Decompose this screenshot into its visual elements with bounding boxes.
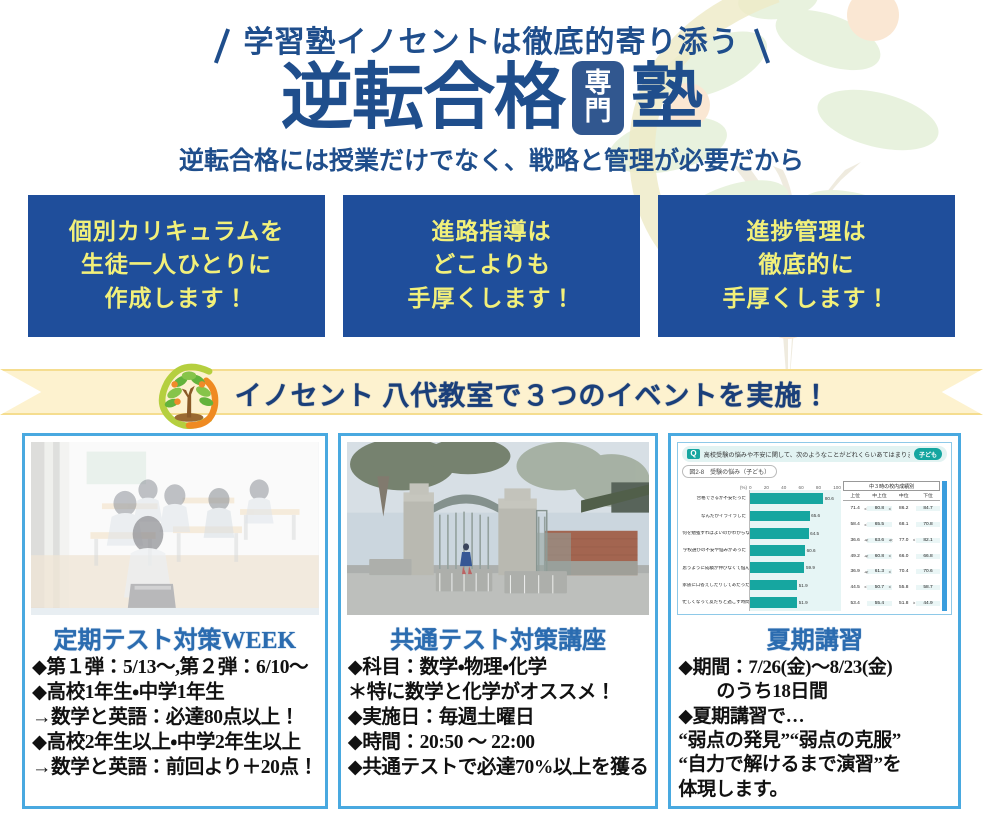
chart-bar-label: 学校選びの不安や悩みがあった: [682, 548, 749, 553]
card-line: →数学と英語：前回より＋20点！: [32, 756, 318, 781]
breakdown-operator: ≪: [889, 538, 893, 543]
breakdown-operator: <: [864, 585, 866, 590]
card-line: ◆第１弾：5/13〜,第２弾：6/10〜: [32, 656, 318, 681]
chart-bar-track: 59.9: [749, 559, 841, 576]
breakdown-header-row: 上位 中上位 中位 下位: [843, 491, 940, 501]
ribbon-text: イノセント 八代教室で３つのイベントを実施！: [235, 374, 831, 413]
breakdown-col-header: 下位: [916, 491, 940, 501]
title-part1: 逆転合格: [281, 62, 565, 134]
university-gate-photo: [347, 442, 650, 615]
chart-bar-value: 80.6: [825, 496, 834, 501]
breakdown-cell: 58.7: [916, 585, 940, 590]
breakdown-col-header: 中位: [892, 491, 916, 501]
promise-box-curriculum: 個別カリキュラムを 生徒一人ひとりに 作成します！: [28, 195, 325, 337]
chart-bar-value: 65.6: [811, 513, 820, 518]
classroom-students-photo: [31, 442, 319, 615]
breakdown-operator: <: [864, 522, 866, 527]
chart-bar-label: 忙しくなって友だちと過ごす時間が減った: [682, 600, 749, 605]
card-line: “弱点の発見”“弱点の克服”: [678, 729, 951, 753]
breakdown-row: 71.4<80.8<86.284.7: [843, 501, 940, 517]
chart-bar-value: 51.9: [799, 583, 808, 588]
chart-bar-row: 何を勉強すればよいのかわからなかった64.5: [682, 525, 841, 542]
card-body: ◆第１弾：5/13〜,第２弾：6/10〜 ◆高校1年生・中学1年生 →数学と英語…: [31, 656, 319, 781]
chart-bar-fill: [750, 580, 797, 591]
breakdown-operator: <: [913, 538, 915, 543]
card-line: 体現します。: [678, 778, 951, 802]
title-part2: 塾: [631, 62, 702, 134]
senmon-badge-char-1: 専: [585, 70, 612, 98]
breakdown-cell: 84.7: [916, 506, 940, 511]
chart-bar-track: 51.9: [749, 576, 841, 593]
breakdown-row: 53.455.451.8>44.9: [843, 595, 940, 611]
sub-copy: 逆転合格には授業だけでなく、戦略と管理が必要だから: [0, 141, 983, 177]
promise-line: 進捗管理は: [664, 215, 949, 248]
breakdown-row: 49.2≪60.8<66.066.8: [843, 548, 940, 564]
chart-bar-value: 51.9: [799, 600, 808, 605]
breakdown-operator: <: [889, 506, 891, 511]
breakdown-cell: 53.4: [843, 601, 867, 606]
breakdown-row: 58.4<65.568.170.8: [843, 517, 940, 533]
chart-bar-label: 思うように成績が伸びなくて悩んだ: [682, 566, 749, 571]
card-line: ◆時間：20:50 〜 22:00: [348, 731, 649, 756]
breakdown-title: 中３時の校内成績別: [843, 481, 940, 491]
chart-bar-row: 忙しくなって友だちと過ごす時間が減った51.9: [682, 594, 841, 611]
breakdown-cell: 68.1: [892, 522, 916, 527]
chart-bar-fill: [750, 511, 810, 522]
catch-copy: 学習塾イノセントは徹底的寄り添う: [204, 26, 780, 59]
card-line: ◆期間：7/26(金)〜8/23(金): [678, 656, 951, 680]
event-card-summer-course[interactable]: Q 高校受験の悩みや不安に関して、次のようなことがどれくらいあてはまりますか。 …: [668, 433, 961, 809]
breakdown-cell: <70.4: [892, 569, 916, 574]
page-header: 学習塾イノセントは徹底的寄り添う 逆転合格 専 門 塾 逆転合格には授業だけでな…: [0, 0, 983, 177]
breakdown-operator: ≪: [864, 538, 868, 543]
breakdown-row: 36.6≪63.6≪77.0<82.1: [843, 532, 940, 548]
card-line: ◆共通テストで必達70%以上を獲る: [348, 756, 649, 781]
promise-line: 生徒一人ひとりに: [34, 248, 319, 281]
breakdown-cell: <55.8: [892, 585, 916, 590]
event-card-common-test[interactable]: 共通テスト対策講座 ◆科目：数学・物理・化学 ＊特に数学と化学がオススメ！ ◆実…: [338, 433, 659, 809]
breakdown-cell: 70.8: [916, 522, 940, 527]
promise-line: 手厚くします！: [349, 282, 634, 315]
chart-bar-label: 何を勉強すればよいのかわからなかった: [682, 531, 749, 536]
breakdown-col-header: 中上位: [867, 491, 891, 501]
survey-breakdown-table: 中３時の校内成績別 上位 中上位 中位 下位 71.4<80.8<86.284.…: [843, 481, 940, 611]
card-line: →数学と英語：必達80点以上！: [32, 706, 318, 731]
chart-bar-row: 家族に口答えしたりしてあたった51.9: [682, 576, 841, 593]
chart-bar-fill: [750, 562, 804, 573]
chart-bar-track: 60.6: [749, 542, 841, 559]
promise-box-progress: 進捗管理は 徹底的に 手厚くします！: [658, 195, 955, 337]
senmon-badge: 専 門: [572, 61, 624, 135]
card-line: ◆実施日：毎週土曜日: [348, 706, 649, 731]
card-line: ◆高校1年生・中学1年生: [32, 681, 318, 706]
card-title: 共通テスト対策講座: [347, 620, 650, 655]
survey-question-text: 高校受験の悩みや不安に関して、次のようなことがどれくらいあてはまりますか。: [704, 450, 910, 459]
breakdown-cell: 70.6: [916, 569, 940, 574]
chart-bar-label: なんだかイライラした: [682, 514, 749, 519]
chart-bar-fill: [750, 545, 805, 556]
card-line: のうち18日間: [678, 680, 951, 704]
promise-box-row: 個別カリキュラムを 生徒一人ひとりに 作成します！ 進路指導は どこよりも 手厚…: [0, 195, 983, 337]
breakdown-operator: ≪: [864, 554, 868, 559]
chart-bar-value: 59.9: [806, 565, 815, 570]
promise-box-guidance: 進路指導は どこよりも 手厚くします！: [343, 195, 640, 337]
chart-bar-row: なんだかイライラした65.6: [682, 507, 841, 524]
survey-question-tag: 子ども: [914, 448, 942, 460]
card-line: ◆科目：数学・物理・化学: [348, 656, 649, 681]
survey-question-bar: Q 高校受験の悩みや不安に関して、次のようなことがどれくらいあてはまりますか。 …: [682, 446, 947, 462]
chart-bar-track: 65.6: [749, 507, 841, 524]
breakdown-col-header: 上位: [843, 491, 867, 501]
breakdown-cell: <82.1: [916, 538, 940, 543]
chart-bar-row: 思うように成績が伸びなくて悩んだ59.9: [682, 559, 841, 576]
promise-line: 手厚くします！: [664, 282, 949, 315]
event-card-row: 定期テスト対策WEEK ◆第１弾：5/13〜,第２弾：6/10〜 ◆高校1年生・…: [0, 425, 983, 809]
breakdown-operator: <: [889, 554, 891, 559]
chart-bar-fill: [750, 528, 809, 539]
survey-bar-area: (%) 0 20 40 60 80 100 合格できるか不: [682, 481, 841, 611]
senmon-badge-char-2: 門: [585, 98, 612, 126]
breakdown-cell: 66.8: [916, 554, 940, 559]
breakdown-cell: <65.5: [867, 522, 891, 527]
chart-bar-fill: [750, 493, 823, 504]
breakdown-cell: <86.2: [892, 506, 916, 511]
breakdown-row: 36.9≪61.3<70.470.6: [843, 564, 940, 580]
breakdown-operator: >: [913, 601, 915, 606]
chart-bar-value: 64.5: [810, 531, 819, 536]
survey-figure-title: 図2-8 受験の悩み（子ども）: [682, 465, 777, 478]
chart-bar-track: 51.9: [749, 594, 841, 611]
promise-line: どこよりも: [349, 248, 634, 281]
breakdown-cell: <66.0: [892, 554, 916, 559]
chart-bar-label: 家族に口答えしたりしてあたった: [682, 583, 749, 588]
breakdown-operator: <: [864, 506, 866, 511]
card-line: ＊特に数学と化学がオススメ！: [348, 681, 649, 706]
chart-bar-track: 64.5: [749, 525, 841, 542]
promise-line: 進路指導は: [349, 215, 634, 248]
breakdown-operator: ≪: [864, 569, 868, 574]
card-title: 夏期講習: [677, 620, 952, 655]
event-ribbon: イノセント 八代教室で３つのイベントを実施！: [0, 363, 983, 423]
question-mark-icon: Q: [687, 449, 699, 459]
chart-bar-label: 合格できるか不安だった: [682, 496, 749, 501]
card-line: “自力で解けるまで演習”を: [678, 753, 951, 777]
chart-bar-fill: [750, 597, 797, 608]
card-body: ◆期間：7/26(金)〜8/23(金) のうち18日間 ◆夏期講習で… “弱点の…: [677, 656, 952, 802]
breakdown-operator: <: [889, 569, 891, 574]
chart-bar-row: 学校選びの不安や悩みがあった60.6: [682, 542, 841, 559]
promise-line: 個別カリキュラムを: [34, 215, 319, 248]
breakdown-cell: >44.9: [916, 601, 940, 606]
chart-x-axis: (%) 0 20 40 60 80 100: [682, 481, 841, 490]
chart-bar-track: 80.6: [749, 490, 841, 507]
event-card-test-week[interactable]: 定期テスト対策WEEK ◆第１弾：5/13〜,第２弾：6/10〜 ◆高校1年生・…: [22, 433, 328, 809]
breakdown-cell: 55.4: [867, 601, 891, 606]
card-line: ◆夏期講習で…: [678, 705, 951, 729]
survey-side-rail: [942, 481, 947, 611]
card-title: 定期テスト対策WEEK: [31, 620, 319, 655]
card-line: ◆高校2年生以上・中学2年生以上: [32, 731, 318, 756]
breakdown-row: 44.5<50.7<55.858.7: [843, 580, 940, 596]
card-body: ◆科目：数学・物理・化学 ＊特に数学と化学がオススメ！ ◆実施日：毎週土曜日 ◆…: [347, 656, 650, 781]
chart-bar-row: 合格できるか不安だった80.6: [682, 490, 841, 507]
survey-chart-image: Q 高校受験の悩みや不安に関して、次のようなことがどれくらいあてはまりますか。 …: [677, 442, 952, 615]
chart-bar-value: 60.6: [807, 548, 816, 553]
innocent-tree-logo-icon: [153, 357, 225, 429]
promise-line: 作成します！: [34, 282, 319, 315]
promise-line: 徹底的に: [664, 248, 949, 281]
breakdown-operator: <: [889, 585, 891, 590]
page-title: 逆転合格 専 門 塾: [0, 61, 983, 135]
survey-chart: Q 高校受験の悩みや不安に関して、次のようなことがどれくらいあてはまりますか。 …: [677, 442, 952, 615]
